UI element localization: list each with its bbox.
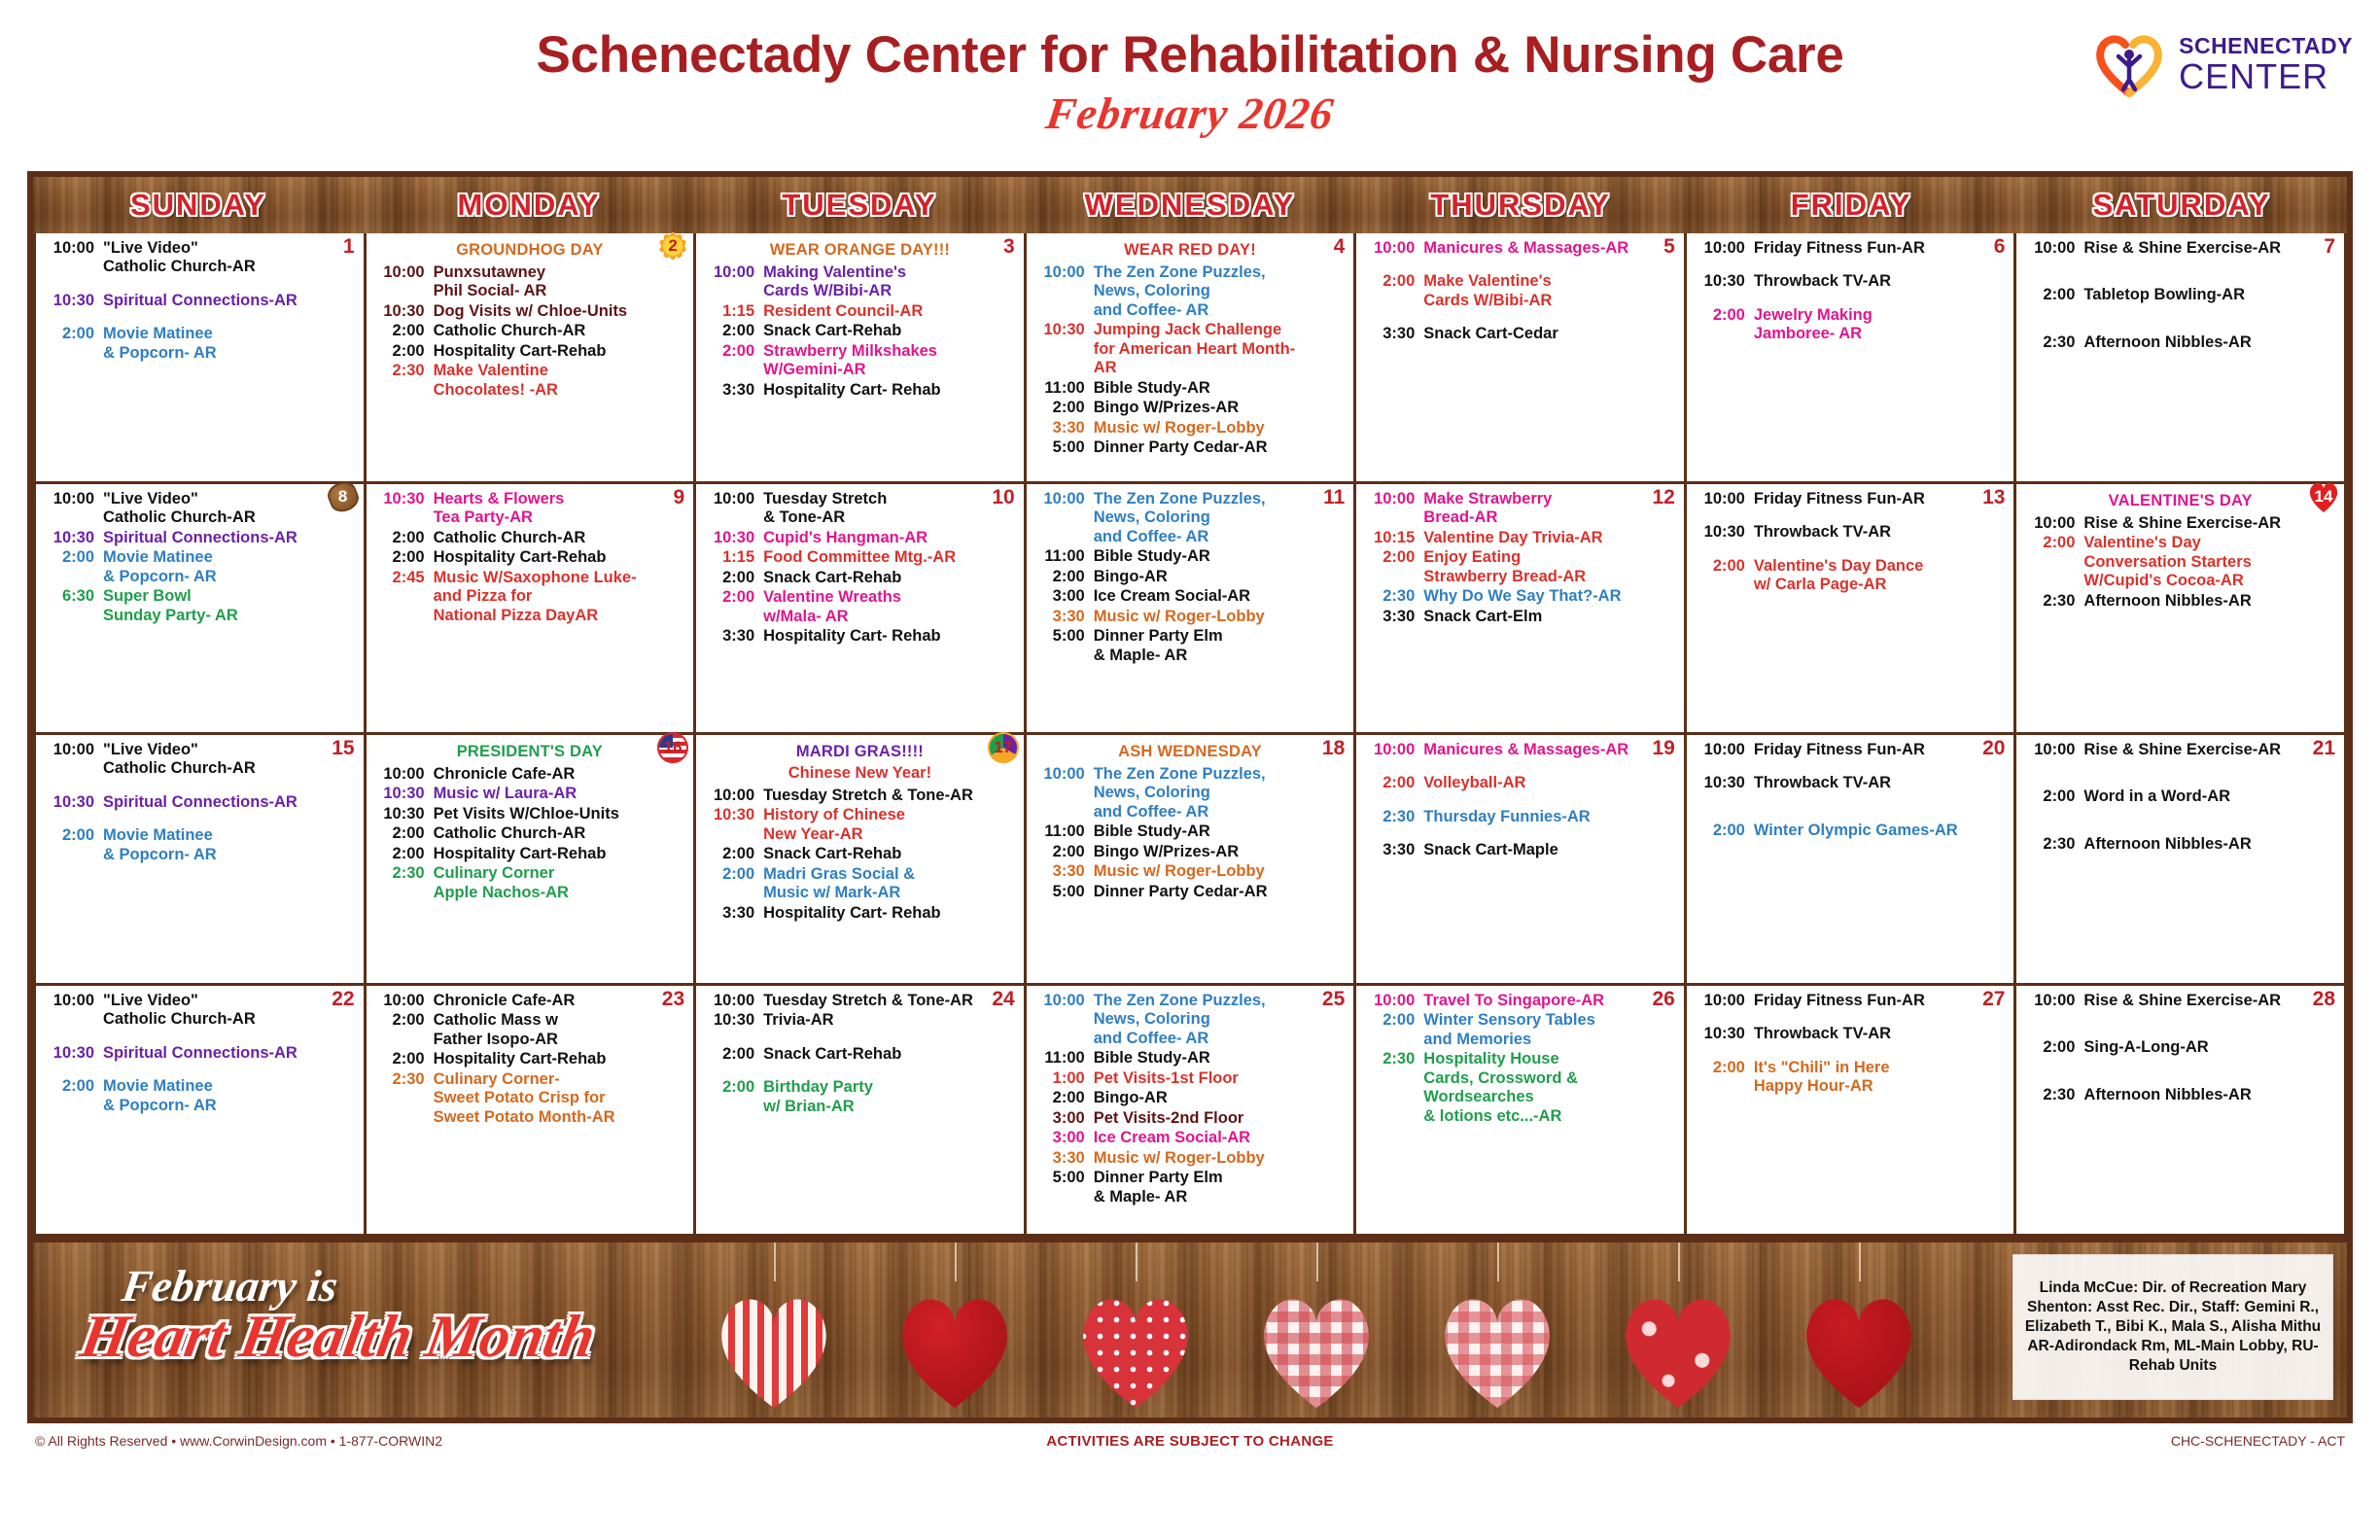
event-item[interactable]: 2:00Jewelry MakingJamboree- AR <box>1695 306 2007 344</box>
day-cell-13[interactable]: 1310:00Friday Fitness Fun-AR10:30Throwba… <box>1687 484 2014 732</box>
event-item[interactable]: 2:00Movie Matinee& Popcorn- AR <box>44 325 356 363</box>
event-item[interactable]: 2:00Snack Cart-Rehab <box>704 322 1016 340</box>
event-item[interactable]: 3:00Pet Visits-2nd Floor <box>1034 1109 1347 1128</box>
day-cell-2[interactable]: 2GROUNDHOG DAY10:00PunxsutawneyPhil Soci… <box>367 233 694 481</box>
event-spacer <box>1364 794 1676 808</box>
event-description: Bible Study-AR <box>1094 822 1347 841</box>
event-time: 2:00 <box>704 1078 763 1097</box>
event-text-line-2: Conversation Starters <box>2083 553 2336 572</box>
event-item[interactable]: 2:00Volleyball-AR <box>1364 774 1676 792</box>
event-time: 2:00 <box>704 865 763 884</box>
event-time: 2:00 <box>2024 787 2083 806</box>
day-cell-16[interactable]: 16PRESIDENT'S DAY10:00Chronicle Cafe-AR1… <box>367 735 694 983</box>
event-description: Valentine's DayConversation StartersW/Cu… <box>2083 534 2336 590</box>
event-item[interactable]: 2:00Hospitality Cart-Rehab <box>374 342 686 361</box>
event-description: Rise & Shine Exercise-AR <box>2083 992 2336 1010</box>
heart-string <box>1316 1242 1318 1281</box>
day-cell-24[interactable]: 2410:00Tuesday Stretch & Tone-AR10:30Tri… <box>696 986 1024 1234</box>
event-item[interactable]: 5:00Dinner Party Cedar-AR <box>1034 438 1347 457</box>
day-cell-25[interactable]: 2510:00The Zen Zone Puzzles,News, Colori… <box>1027 986 1354 1234</box>
event-time: 2:00 <box>704 569 763 587</box>
event-time: 2:30 <box>374 362 434 380</box>
event-text-line-1: Birthday Party <box>763 1078 873 1096</box>
event-text-line-1: Spiritual Connections-AR <box>103 292 297 309</box>
event-text-line-3: and Coffee- AR <box>1094 803 1347 822</box>
heart-string <box>1859 1242 1861 1281</box>
event-item[interactable]: 2:00Catholic Mass wFather Isopo-AR <box>374 1011 686 1049</box>
event-text-line-1: Volleyball-AR <box>1423 774 1525 791</box>
event-time: 10:00 <box>374 992 434 1010</box>
event-item[interactable]: 10:00Friday Fitness Fun-AR <box>1695 239 2007 258</box>
event-item[interactable]: 10:00Friday Fitness Fun-AR <box>1695 490 2007 508</box>
event-description: Bible Study-AR <box>1094 547 1347 566</box>
event-item[interactable]: 3:30Hospitality Cart- Rehab <box>704 381 1016 400</box>
event-text-line-2: Cards W/Bibi-AR <box>1423 292 1676 310</box>
event-text-line-1: Spiritual Connections-AR <box>103 1044 297 1062</box>
event-description: Afternoon Nibbles-AR <box>2083 835 2336 854</box>
event-description: Strawberry MilkshakesW/Gemini-AR <box>763 342 1016 380</box>
event-item[interactable]: 3:30Music w/ Roger-Lobby <box>1034 419 1347 437</box>
event-item[interactable]: 10:00Chronicle Cafe-AR <box>374 765 686 784</box>
event-item[interactable]: 10:00Tuesday Stretch& Tone-AR <box>704 490 1016 528</box>
day-cell-8[interactable]: 810:00"Live Video"Catholic Church-AR10:3… <box>36 484 364 732</box>
day-number: 26 <box>1652 989 1674 1009</box>
event-item[interactable]: 2:30Afternoon Nibbles-AR <box>2024 1086 2336 1104</box>
day-cell-9[interactable]: 910:30Hearts & FlowersTea Party-AR2:00Ca… <box>367 484 694 732</box>
event-text-line-1: Hospitality Cart- Rehab <box>763 381 940 399</box>
event-item[interactable]: 10:00Making Valentine'sCards W/Bibi-AR <box>704 263 1016 301</box>
event-item[interactable]: 3:30Music w/ Roger-Lobby <box>1034 862 1347 881</box>
event-item[interactable]: 10:00Tuesday Stretch & Tone-AR <box>704 787 1016 805</box>
day-cell-26[interactable]: 2610:00Travel To Singapore-AR2:00Winter … <box>1356 986 1684 1234</box>
event-text-line-2: Happy Hour-AR <box>1754 1077 2007 1096</box>
event-text-line-3: National Pizza DayAR <box>434 607 686 625</box>
event-item[interactable]: 10:30Cupid's Hangman-AR <box>704 529 1016 547</box>
day-cell-6[interactable]: 610:00Friday Fitness Fun-AR10:30Throwbac… <box>1687 233 2014 481</box>
event-item[interactable]: 2:30Afternoon Nibbles-AR <box>2024 835 2336 854</box>
event-text-line-1: Rise & Shine Exercise-AR <box>2083 741 2281 758</box>
event-time: 2:00 <box>2024 534 2083 552</box>
event-text-line-1: Throwback TV-AR <box>1754 523 1891 541</box>
event-description: Snack Cart-Cedar <box>1423 325 1676 343</box>
event-item[interactable]: 2:00Madri Gras Social &Music w/ Mark-AR <box>704 865 1016 903</box>
day-cell-10[interactable]: 1010:00Tuesday Stretch& Tone-AR10:30Cupi… <box>696 484 1024 732</box>
event-item[interactable]: 10:00Manicures & Massages-AR <box>1364 741 1676 759</box>
event-spacer <box>704 1065 1016 1078</box>
day-cell-18[interactable]: 18ASH WEDNESDAY10:00The Zen Zone Puzzles… <box>1027 735 1354 983</box>
event-item[interactable]: 2:00Strawberry MilkshakesW/Gemini-AR <box>704 342 1016 380</box>
day-cell-14[interactable]: 14VALENTINE'S DAY10:00Rise & Shine Exerc… <box>2016 484 2344 732</box>
event-item[interactable]: 2:00Hospitality Cart-Rehab <box>374 548 686 567</box>
event-item[interactable]: 10:00Manicures & Massages-AR <box>1364 239 1676 258</box>
event-time: 3:30 <box>704 627 763 646</box>
heart-shape-solid <box>894 1295 1015 1408</box>
bottom-banner: February is Heart Health Month Linda McC… <box>27 1242 2353 1423</box>
event-item[interactable]: 3:30Snack Cart-Cedar <box>1364 325 1676 343</box>
event-description: Dinner Party Cedar-AR <box>1094 883 1347 901</box>
event-time: 10:00 <box>1695 239 1754 258</box>
groundhog-badge-icon: 2 <box>656 229 689 262</box>
event-item[interactable]: 2:00Valentine's DayConversation Starters… <box>2024 534 2336 590</box>
event-item[interactable]: 2:00Enjoy EatingStrawberry Bread-AR <box>1364 548 1676 586</box>
event-item[interactable]: 10:00Travel To Singapore-AR <box>1364 992 1676 1010</box>
event-time: 2:30 <box>1364 808 1423 826</box>
event-item[interactable]: 2:00Catholic Church-AR <box>374 824 686 843</box>
event-item[interactable]: 2:00Sing-A-Long-AR <box>2024 1038 2336 1057</box>
event-description: Throwback TV-AR <box>1754 1025 2007 1043</box>
day-cell-7[interactable]: 710:00Rise & Shine Exercise-AR2:00Tablet… <box>2016 233 2344 481</box>
weekday-label: FRIDAY <box>1791 188 1912 223</box>
heart-ornament <box>1618 1268 1738 1410</box>
event-item[interactable]: 2:30Culinary CornerApple Nachos-AR <box>374 864 686 902</box>
event-item[interactable]: 10:00The Zen Zone Puzzles,News, Coloring… <box>1034 765 1347 822</box>
event-item[interactable]: 10:00Rise & Shine Exercise-AR <box>2024 741 2336 759</box>
event-item[interactable]: 10:00"Live Video"Catholic Church-AR <box>44 239 356 277</box>
event-description: Chronicle Cafe-AR <box>434 765 686 784</box>
event-text-line-1: Spiritual Connections-AR <box>103 793 297 811</box>
event-item[interactable]: 10:00Tuesday Stretch & Tone-AR <box>704 992 1016 1010</box>
event-item[interactable]: 2:00Movie Matinee& Popcorn- AR <box>44 1077 356 1115</box>
event-item[interactable]: 10:00Make StrawberryBread-AR <box>1364 490 1676 528</box>
day-cell-22[interactable]: 2210:00"Live Video"Catholic Church-AR10:… <box>36 986 364 1234</box>
event-time: 10:00 <box>704 992 763 1010</box>
event-item[interactable]: 2:00Snack Cart-Rehab <box>704 845 1016 863</box>
heart-ornament <box>894 1268 1015 1410</box>
event-item[interactable]: 2:00Make Valentine'sCards W/Bibi-AR <box>1364 272 1676 310</box>
event-text-line-2: & Maple- AR <box>1094 647 1347 665</box>
event-item[interactable]: 3:30Snack Cart-Maple <box>1364 841 1676 859</box>
event-item[interactable]: 10:00Friday Fitness Fun-AR <box>1695 992 2007 1010</box>
event-item[interactable]: 2:00It's "Chili" in HereHappy Hour-AR <box>1695 1059 2007 1097</box>
event-item[interactable]: 10:00Rise & Shine Exercise-AR <box>2024 514 2336 533</box>
event-description: Catholic Church-AR <box>434 322 686 340</box>
event-time: 10:30 <box>1695 774 1754 792</box>
event-spacer <box>1695 509 2007 523</box>
event-text-line-1: Hospitality Cart-Rehab <box>434 548 607 566</box>
event-description: Throwback TV-AR <box>1754 774 2007 792</box>
event-text-line-1: Sing-A-Long-AR <box>2083 1038 2208 1056</box>
event-text-line-1: Tuesday Stretch <box>763 490 887 507</box>
event-item[interactable]: 3:30Snack Cart-Elm <box>1364 608 1676 626</box>
event-time: 2:00 <box>1034 843 1094 861</box>
event-time: 2:00 <box>44 548 103 567</box>
event-description: Hospitality Cart- Rehab <box>763 904 1016 923</box>
event-item[interactable]: 10:00Chronicle Cafe-AR <box>374 992 686 1010</box>
event-item[interactable]: 3:30Music w/ Roger-Lobby <box>1034 608 1347 626</box>
event-text-line-2: W/Gemini-AR <box>763 361 1016 379</box>
event-item[interactable]: 2:00Winter Olympic Games-AR <box>1695 822 2007 840</box>
event-item[interactable]: 10:00PunxsutawneyPhil Social- AR <box>374 263 686 301</box>
event-item[interactable]: 3:30Hospitality Cart- Rehab <box>704 904 1016 923</box>
event-text-line-1: The Zen Zone Puzzles, <box>1094 992 1266 1009</box>
event-spacer <box>1695 293 2007 306</box>
event-time: 2:00 <box>374 322 434 340</box>
event-item[interactable]: 11:00Bible Study-AR <box>1034 379 1347 398</box>
event-item[interactable]: 2:30Why Do We Say That?-AR <box>1364 587 1676 606</box>
event-item[interactable]: 2:00Movie Matinee& Popcorn- AR <box>44 548 356 586</box>
event-item[interactable]: 2:00Winter Sensory Tablesand Memories <box>1364 1011 1676 1049</box>
event-text-line-2: Chocolates! -AR <box>434 381 686 400</box>
event-description: Tabletop Bowling-AR <box>2083 286 2336 304</box>
event-text-line-1: Friday Fitness Fun-AR <box>1754 239 1925 257</box>
event-item[interactable]: 2:00Movie Matinee& Popcorn- AR <box>44 826 356 864</box>
day-cell-1[interactable]: 110:00"Live Video"Catholic Church-AR10:3… <box>36 233 364 481</box>
event-item[interactable]: 2:00Valentine's Day Dancew/ Carla Page-A… <box>1695 557 2007 595</box>
event-time: 10:00 <box>704 263 763 282</box>
day-number: 2 <box>656 229 689 262</box>
event-spacer <box>44 813 356 826</box>
event-text-line-1: Dinner Party Elm <box>1094 627 1223 645</box>
event-item[interactable]: 2:00Hospitality Cart-Rehab <box>374 1050 686 1068</box>
event-item[interactable]: 2:00Valentine Wreathsw/Mala- AR <box>704 588 1016 626</box>
event-item[interactable]: 10:15Valentine Day Trivia-AR <box>1364 529 1676 547</box>
event-time: 1:15 <box>704 302 763 321</box>
event-time: 10:00 <box>1034 992 1094 1010</box>
event-time: 10:30 <box>44 1044 103 1063</box>
event-time: 2:30 <box>374 1070 434 1089</box>
day-number: 22 <box>332 989 354 1009</box>
event-item[interactable]: 2:00Bingo-AR <box>1034 1089 1347 1107</box>
event-item[interactable]: 11:00Bible Study-AR <box>1034 1049 1347 1067</box>
event-item[interactable]: 10:30Throwback TV-AR <box>1695 1025 2007 1043</box>
event-time: 3:30 <box>704 381 763 400</box>
event-text-line-2: Bread-AR <box>1423 508 1676 527</box>
heart-shape-solid <box>1799 1295 1919 1408</box>
event-item[interactable]: 2:00Bingo W/Prizes-AR <box>1034 399 1347 417</box>
event-item[interactable]: 2:30Culinary Corner-Sweet Potato Crisp f… <box>374 1070 686 1127</box>
event-description: Hospitality Cart-Rehab <box>434 845 686 863</box>
event-description: Chronicle Cafe-AR <box>434 992 686 1010</box>
event-text-line-1: Making Valentine's <box>763 263 906 281</box>
event-item[interactable]: 3:00Ice Cream Social-AR <box>1034 1129 1347 1147</box>
event-text-line-2: & Popcorn- AR <box>103 1097 356 1115</box>
event-description: Bingo W/Prizes-AR <box>1094 843 1347 861</box>
day-cell-28[interactable]: 2810:00Rise & Shine Exercise-AR2:00Sing-… <box>2016 986 2344 1234</box>
event-time: 10:00 <box>704 787 763 805</box>
day-number: 16 <box>656 731 689 764</box>
event-time: 3:30 <box>1034 608 1094 626</box>
event-item[interactable]: 1:15Resident Council-AR <box>704 302 1016 321</box>
event-item[interactable]: 10:30Hearts & FlowersTea Party-AR <box>374 490 686 528</box>
day-cell-12[interactable]: 1210:00Make StrawberryBread-AR10:15Valen… <box>1356 484 1684 732</box>
day-number: 1 <box>343 236 355 257</box>
day-cell-23[interactable]: 2310:00Chronicle Cafe-AR2:00Catholic Mas… <box>367 986 694 1234</box>
event-item[interactable]: 10:00Rise & Shine Exercise-AR <box>2024 239 2336 258</box>
event-item[interactable]: 10:00Rise & Shine Exercise-AR <box>2024 992 2336 1010</box>
event-item[interactable]: 10:30Throwback TV-AR <box>1695 523 2007 542</box>
event-time: 10:30 <box>704 806 763 824</box>
event-item[interactable]: 10:00"Live Video"Catholic Church-AR <box>44 992 356 1030</box>
event-item[interactable]: 10:30Spiritual Connections-AR <box>44 793 356 812</box>
event-description: Snack Cart-Rehab <box>763 322 1016 340</box>
calendar-page: Schenectady Center for Rehabilitation & … <box>0 0 2380 1540</box>
event-item[interactable]: 10:30Music w/ Laura-AR <box>374 785 686 803</box>
event-description: Ice Cream Social-AR <box>1094 1129 1347 1147</box>
event-item[interactable]: 2:30Make ValentineChocolates! -AR <box>374 362 686 400</box>
event-description: Sing-A-Long-AR <box>2083 1038 2336 1057</box>
event-text-line-1: Ice Cream Social-AR <box>1094 1129 1250 1146</box>
event-item[interactable]: 10:30Pet Visits W/Chloe-Units <box>374 805 686 823</box>
event-spacer <box>44 1064 356 1077</box>
event-description: Make ValentineChocolates! -AR <box>434 362 686 400</box>
event-item[interactable]: 3:30Hospitality Cart- Rehab <box>704 627 1016 646</box>
day-banner: VALENTINE'S DAY <box>2024 492 2336 510</box>
event-item[interactable]: 2:00Bingo W/Prizes-AR <box>1034 843 1347 861</box>
event-description: The Zen Zone Puzzles,News, Coloringand C… <box>1094 263 1347 320</box>
event-description: Thursday Funnies-AR <box>1423 808 1676 826</box>
event-item[interactable]: 10:00The Zen Zone Puzzles,News, Coloring… <box>1034 490 1347 546</box>
event-item[interactable]: 5:00Dinner Party Elm& Maple- AR <box>1034 1169 1347 1207</box>
event-item[interactable]: 2:30Thursday Funnies-AR <box>1364 808 1676 826</box>
event-description: Tuesday Stretch& Tone-AR <box>763 490 1016 528</box>
event-item[interactable]: 10:00"Live Video"Catholic Church-AR <box>44 490 356 528</box>
event-item[interactable]: 1:15Food Committee Mtg.-AR <box>704 548 1016 567</box>
event-description: Winter Sensory Tablesand Memories <box>1423 1011 1676 1049</box>
event-time: 3:30 <box>1364 841 1423 859</box>
event-description: Tuesday Stretch & Tone-AR <box>763 992 1016 1010</box>
event-time: 10:00 <box>44 490 103 508</box>
event-item[interactable]: 11:00Bible Study-AR <box>1034 822 1347 841</box>
event-item[interactable]: 5:00Dinner Party Cedar-AR <box>1034 883 1347 901</box>
day-banner: WEAR ORANGE DAY!!! <box>704 241 1016 260</box>
event-item[interactable]: 2:00Bingo-AR <box>1034 568 1347 586</box>
event-text-line-1: Thursday Funnies-AR <box>1423 808 1590 825</box>
day-cell-5[interactable]: 510:00Manicures & Massages-AR2:00Make Va… <box>1356 233 1684 481</box>
event-item[interactable]: 3:30Music w/ Roger-Lobby <box>1034 1149 1347 1168</box>
event-text-line-3: AR <box>1094 359 1347 377</box>
event-description: Music w/ Roger-Lobby <box>1094 862 1347 881</box>
event-description: Jumping Jack Challengefor American Heart… <box>1094 321 1347 377</box>
event-item[interactable]: 2:30Afternoon Nibbles-AR <box>2024 592 2336 611</box>
event-item[interactable]: 10:00The Zen Zone Puzzles,News, Coloring… <box>1034 992 1347 1048</box>
day-cell-17[interactable]: 17MARDI GRAS!!!!Chinese New Year!10:00Tu… <box>696 735 1024 983</box>
day-cell-3[interactable]: 3WEAR ORANGE DAY!!!10:00Making Valentine… <box>696 233 1024 481</box>
event-item[interactable]: 10:30Spiritual Connections-AR <box>44 292 356 310</box>
event-description: Dog Visits w/ Chloe-Units <box>434 302 686 321</box>
event-item[interactable]: 10:30Spiritual Connections-AR <box>44 529 356 547</box>
event-item[interactable]: 1:00Pet Visits-1st Floor <box>1034 1069 1347 1088</box>
event-text-line-1: Throwback TV-AR <box>1754 1025 1891 1042</box>
event-item[interactable]: 5:00Dinner Party Elm& Maple- AR <box>1034 627 1347 665</box>
event-item[interactable]: 10:30Throwback TV-AR <box>1695 272 2007 291</box>
event-item[interactable]: 2:00Tabletop Bowling-AR <box>2024 286 2336 304</box>
heart-ornament <box>1256 1268 1377 1410</box>
event-description: The Zen Zone Puzzles,News, Coloringand C… <box>1094 765 1347 822</box>
heart-string <box>1497 1242 1499 1281</box>
event-time: 10:00 <box>2024 239 2083 258</box>
event-time: 5:00 <box>1034 1169 1094 1187</box>
event-item[interactable]: 2:00Word in a Word-AR <box>2024 787 2336 806</box>
event-item[interactable]: 2:00Birthday Partyw/ Brian-AR <box>704 1078 1016 1116</box>
day-cell-15[interactable]: 1510:00"Live Video"Catholic Church-AR10:… <box>36 735 364 983</box>
day-cell-4[interactable]: 4WEAR RED DAY!10:00The Zen Zone Puzzles,… <box>1027 233 1354 481</box>
heart-ornament <box>1437 1268 1557 1410</box>
event-time: 6:30 <box>44 587 103 606</box>
day-number: 7 <box>2324 236 2335 257</box>
event-item[interactable]: 6:30Super BowlSunday Party- AR <box>44 587 356 625</box>
event-description: Winter Olympic Games-AR <box>1754 822 2007 840</box>
event-item[interactable]: 10:30Spiritual Connections-AR <box>44 1044 356 1063</box>
day-cell-19[interactable]: 1910:00Manicures & Massages-AR2:00Volley… <box>1356 735 1684 983</box>
event-text-line-1: Hospitality Cart-Rehab <box>434 342 607 360</box>
day-number: 21 <box>2313 738 2335 758</box>
event-item[interactable]: 2:00Hospitality Cart-Rehab <box>374 845 686 863</box>
event-item[interactable]: 10:00The Zen Zone Puzzles,News, Coloring… <box>1034 263 1347 320</box>
day-cell-20[interactable]: 2010:00Friday Fitness Fun-AR10:30Throwba… <box>1687 735 2014 983</box>
event-time: 3:30 <box>1034 419 1094 437</box>
event-item[interactable]: 10:00"Live Video"Catholic Church-AR <box>44 741 356 779</box>
logo-line-2: CENTER <box>2179 59 2353 94</box>
event-spacer <box>1695 259 2007 272</box>
event-spacer <box>704 1032 1016 1045</box>
event-text-line-2: Strawberry Bread-AR <box>1423 568 1676 586</box>
event-item[interactable]: 2:30Hospitality HouseCards, Crossword &W… <box>1364 1050 1676 1126</box>
event-description: Super BowlSunday Party- AR <box>103 587 356 625</box>
event-time: 3:00 <box>1034 1129 1094 1147</box>
event-time: 10:30 <box>44 793 103 812</box>
day-cell-11[interactable]: 1110:00The Zen Zone Puzzles,News, Colori… <box>1027 484 1354 732</box>
event-time: 2:00 <box>1695 306 1754 325</box>
event-text-line-2: News, Coloring <box>1094 508 1347 527</box>
event-time: 5:00 <box>1034 438 1094 457</box>
event-text-line-1: The Zen Zone Puzzles, <box>1094 765 1266 783</box>
event-item[interactable]: 10:30Throwback TV-AR <box>1695 774 2007 792</box>
weekday-header-saturday: SATURDAY <box>2016 177 2347 233</box>
event-spacer <box>2024 272 2336 286</box>
event-item[interactable]: 2:00Snack Cart-Rehab <box>704 569 1016 587</box>
event-item[interactable]: 10:30History of ChineseNew Year-AR <box>704 806 1016 844</box>
flag-badge-icon: 16 <box>656 731 689 764</box>
event-description: Rise & Shine Exercise-AR <box>2083 239 2336 258</box>
event-spacer <box>2024 774 2336 787</box>
event-item[interactable]: 10:00Friday Fitness Fun-AR <box>1695 741 2007 759</box>
day-cell-21[interactable]: 2110:00Rise & Shine Exercise-AR2:00Word … <box>2016 735 2344 983</box>
event-time: 10:30 <box>1695 272 1754 291</box>
event-text-line-1: Enjoy Eating <box>1423 548 1521 566</box>
logo-wordmark: SCHENECTADY CENTER <box>2179 35 2353 94</box>
event-time: 10:00 <box>374 263 434 282</box>
weekday-label: WEDNESDAY <box>1085 188 1296 223</box>
event-item[interactable]: 10:30Dog Visits w/ Chloe-Units <box>374 302 686 321</box>
event-spacer <box>44 311 356 325</box>
event-text-line-1: Cupid's Hangman-AR <box>763 529 927 546</box>
heart-shape-dots <box>1075 1295 1196 1408</box>
event-description: Valentine Wreathsw/Mala- AR <box>763 588 1016 626</box>
event-spacer <box>2024 1059 2336 1072</box>
event-time: 10:30 <box>704 529 763 547</box>
event-spacer <box>2024 822 2336 835</box>
event-description: Throwback TV-AR <box>1754 523 2007 542</box>
event-text-line-3: and Coffee- AR <box>1094 1030 1347 1048</box>
event-item[interactable]: 2:30Afternoon Nibbles-AR <box>2024 333 2336 352</box>
event-time: 11:00 <box>1034 822 1094 841</box>
event-item[interactable]: 10:30Jumping Jack Challengefor American … <box>1034 321 1347 377</box>
event-description: Volleyball-AR <box>1423 774 1676 792</box>
event-spacer <box>44 1031 356 1044</box>
event-description: Dinner Party Elm& Maple- AR <box>1094 627 1347 665</box>
event-text-line-1: Movie Matinee <box>103 548 213 566</box>
event-item[interactable]: 3:00Ice Cream Social-AR <box>1034 587 1347 606</box>
event-item[interactable]: 2:00Catholic Church-AR <box>374 529 686 547</box>
event-text-line-1: Music w/ Roger-Lobby <box>1094 608 1265 625</box>
event-item[interactable]: 2:45Music W/Saxophone Luke-and Pizza for… <box>374 569 686 625</box>
event-item[interactable]: 10:30Trivia-AR <box>704 1011 1016 1030</box>
day-cell-27[interactable]: 2710:00Friday Fitness Fun-AR10:30Throwba… <box>1687 986 2014 1234</box>
event-item[interactable]: 2:00Snack Cart-Rehab <box>704 1045 1016 1064</box>
event-item[interactable]: 2:00Catholic Church-AR <box>374 322 686 340</box>
event-text-line-1: Hospitality Cart-Rehab <box>434 1050 607 1067</box>
event-item[interactable]: 11:00Bible Study-AR <box>1034 547 1347 566</box>
